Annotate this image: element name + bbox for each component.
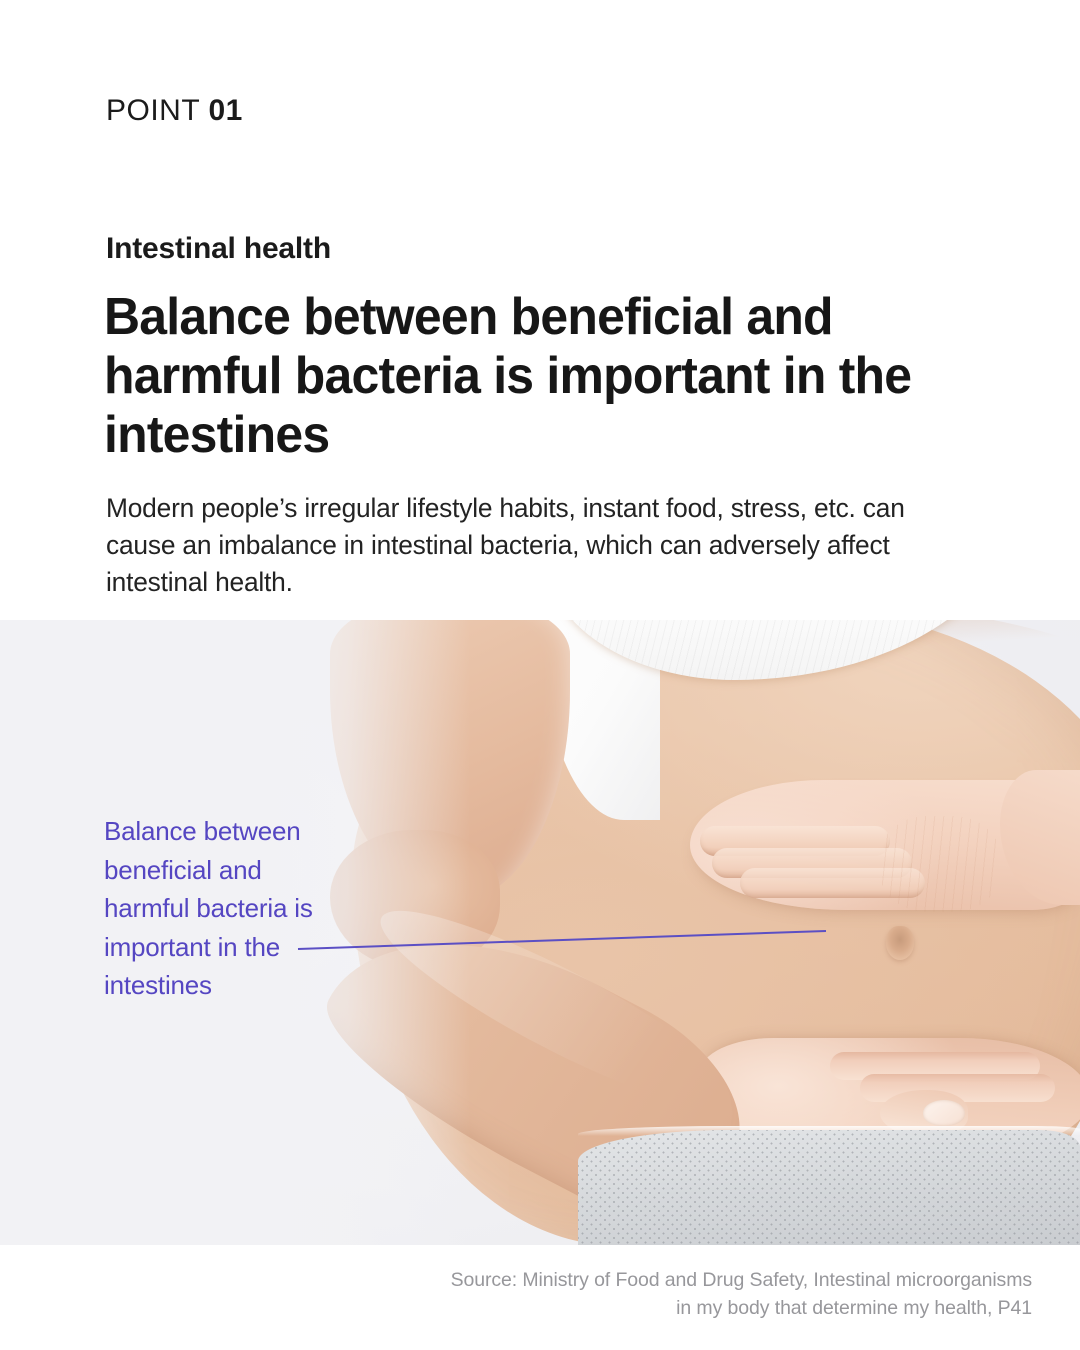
point-label: POINT 01 — [106, 94, 243, 128]
section-description: Modern people’s irregular lifestyle habi… — [106, 490, 964, 601]
photo-lower-thumbnail — [923, 1100, 965, 1126]
photo-shorts-mesh-texture — [578, 1130, 1080, 1245]
page-title: Balance between beneficial and harmful b… — [104, 288, 987, 465]
point-label-prefix: POINT — [106, 94, 208, 127]
photo-upper-hand-creases — [880, 816, 1000, 912]
point-label-number: 01 — [208, 94, 242, 127]
photo-shorts — [578, 1130, 1080, 1245]
photo-annotation: Balance between beneficial and harmful b… — [104, 812, 340, 1005]
section-eyebrow: Intestinal health — [106, 232, 331, 266]
promo-page: POINT 01 Intestinal health Balance betwe… — [0, 0, 1080, 1350]
source-line-1: Source: Ministry of Food and Drug Safety… — [332, 1266, 1032, 1294]
source-line-2: in my body that determine my health, P41 — [332, 1294, 1032, 1322]
photo-navel — [886, 926, 914, 960]
source-citation: Source: Ministry of Food and Drug Safety… — [332, 1266, 1032, 1322]
